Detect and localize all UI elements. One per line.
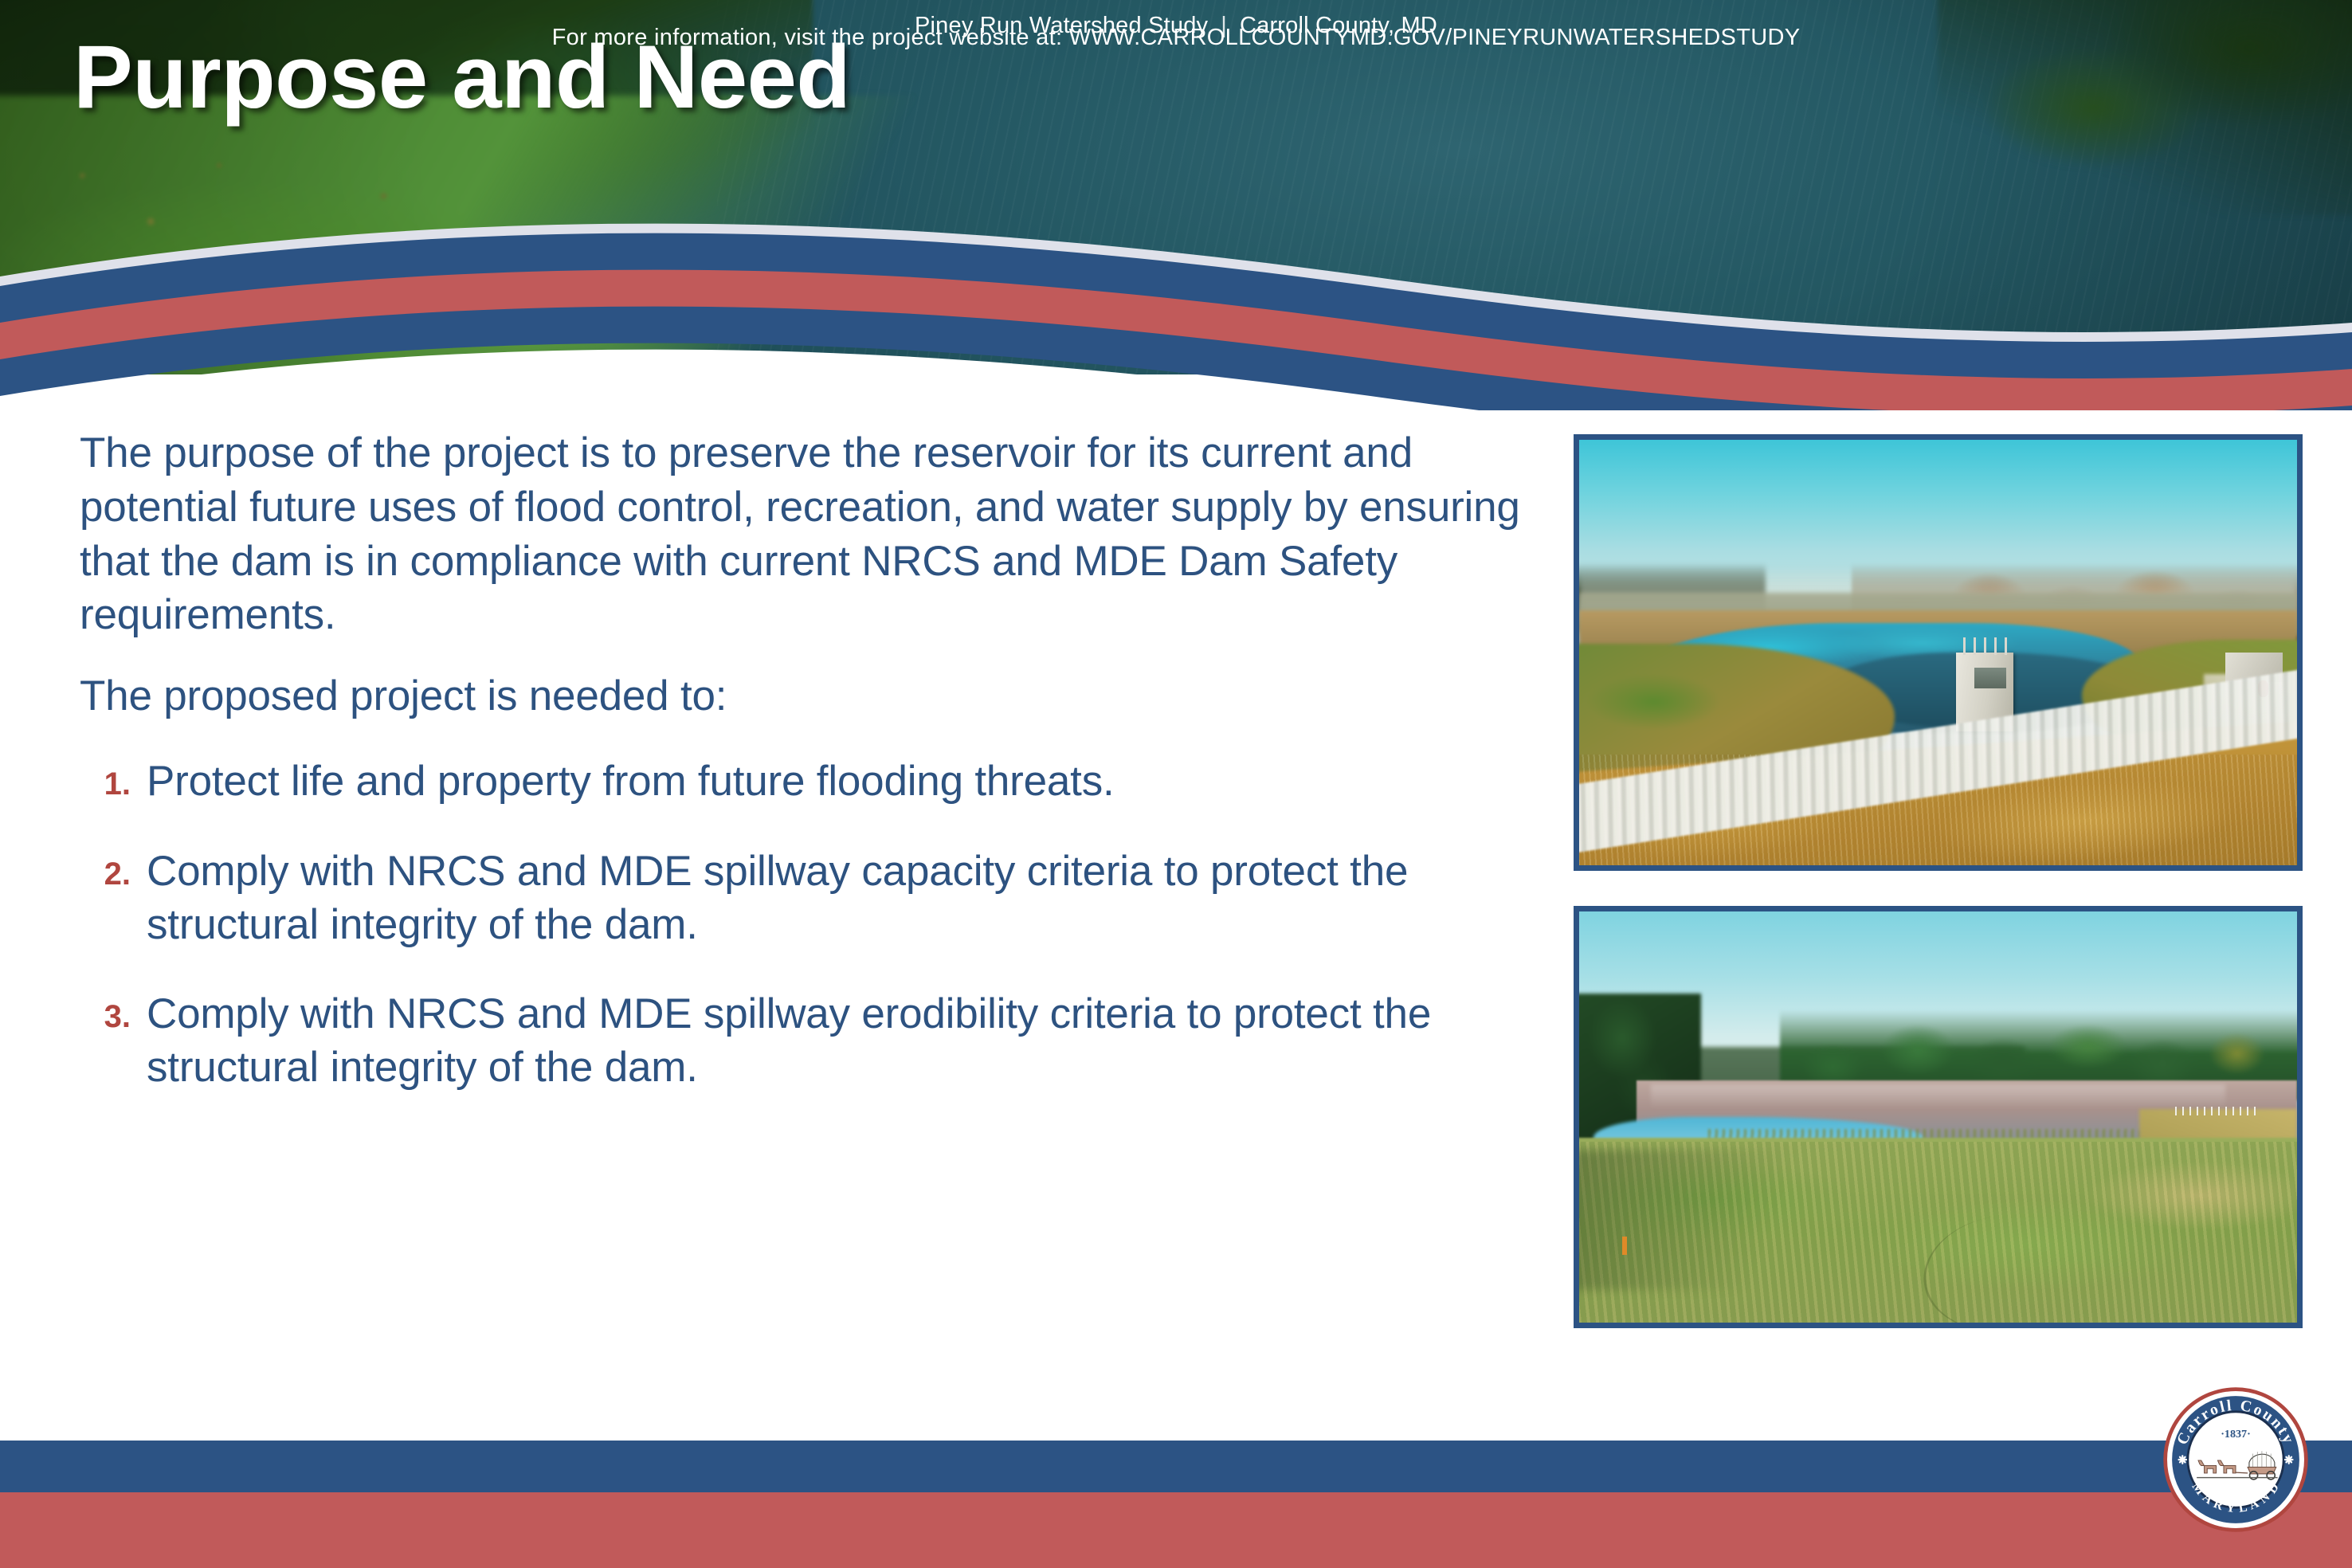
list-number: 1. [80,755,147,800]
list-number: 3. [80,988,147,1033]
list-text: Comply with NRCS and MDE spillway capaci… [147,845,1562,952]
list-text: Comply with NRCS and MDE spillway erodib… [147,988,1562,1095]
seal-starburst-right-icon [2285,1456,2292,1463]
need-intro-paragraph: The proposed project is needed to: [80,669,1562,723]
footer-website-line: For more information, visit the project … [0,0,2352,76]
list-number: 2. [80,845,147,890]
content-column: The purpose of the project is to preserv… [80,426,1562,1131]
reservoir-dam-intake-tower-photo [1574,434,2303,871]
footer-red-bar [0,1492,2352,1568]
seal-year-text: ·1837· [2221,1428,2251,1441]
slide-root: Purpose and Need The purpose of the proj… [0,0,2352,1568]
footer-navy-bar [0,1441,2352,1492]
wave-divider [0,203,2352,410]
purpose-paragraph: The purpose of the project is to preserv… [80,426,1562,642]
list-text: Protect life and property from future fl… [147,755,1562,809]
carroll-county-seal-icon: Carroll County M A R Y L A N D ·1837· [2161,1385,2311,1535]
seal-starburst-left-icon [2179,1456,2186,1463]
list-item: 1. Protect life and property from future… [80,755,1562,809]
reservoir-meadow-shoreline-photo [1574,906,2303,1328]
list-item: 3. Comply with NRCS and MDE spillway ero… [80,988,1562,1095]
list-item: 2. Comply with NRCS and MDE spillway cap… [80,845,1562,952]
needs-list: 1. Protect life and property from future… [80,755,1562,1095]
